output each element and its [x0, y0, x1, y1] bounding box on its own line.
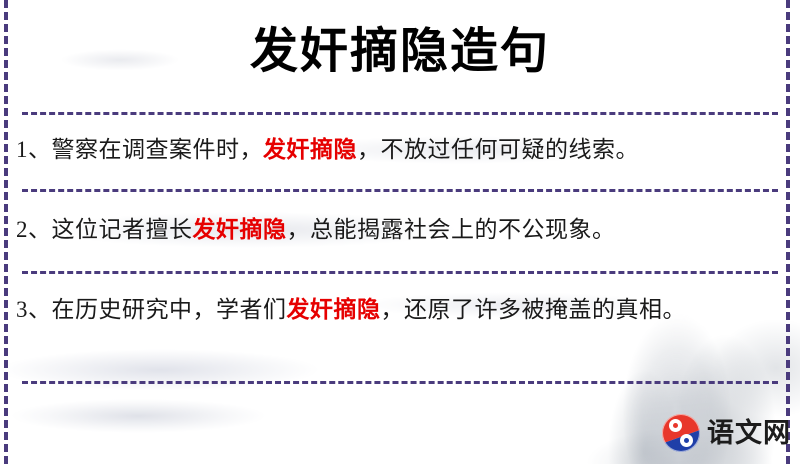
border-left-dashed: [4, 0, 8, 464]
sentence-3-index: 3、: [16, 297, 52, 322]
sentence-1-index: 1、: [16, 137, 52, 162]
sentence-2-idiom: 发奸摘隐: [193, 217, 287, 242]
border-right-dashed: [786, 0, 790, 464]
sentence-item-1: 1、警察在调查案件时，发奸摘隐，不放过任何可疑的线索。: [16, 129, 778, 171]
site-logo-text: 语文网: [707, 420, 791, 447]
sentence-3-idiom: 发奸摘隐: [287, 297, 381, 322]
sentence-item-2: 2、这位记者擅长发奸摘隐，总能揭露社会上的不公现象。: [16, 209, 778, 251]
sentence-2-before: 这位记者擅长: [52, 217, 193, 242]
sentence-1-idiom: 发奸摘隐: [263, 137, 357, 162]
site-logo: 语文网: [662, 412, 791, 454]
divider-3: [22, 271, 778, 274]
sentence-1-before: 警察在调查案件时，: [52, 137, 264, 162]
worksheet-page: 发奸摘隐造句 1、警察在调查案件时，发奸摘隐，不放过任何可疑的线索。 2、这位记…: [0, 0, 800, 464]
page-title: 发奸摘隐造句: [0, 22, 800, 82]
yinyang-logo-icon: [662, 414, 700, 452]
sentence-1-after: ，不放过任何可疑的线索。: [357, 137, 639, 162]
sentence-3-before: 在历史研究中，学者们: [52, 297, 287, 322]
divider-4: [22, 381, 778, 384]
divider-2: [22, 189, 778, 192]
sentence-2-after: ，总能揭露社会上的不公现象。: [287, 217, 616, 242]
sentence-2-index: 2、: [16, 217, 52, 242]
sentence-3-after: ，还原了许多被掩盖的真相。: [381, 297, 687, 322]
sentence-item-3: 3、在历史研究中，学者们发奸摘隐，还原了许多被掩盖的真相。: [16, 289, 778, 331]
divider-1: [22, 112, 778, 115]
